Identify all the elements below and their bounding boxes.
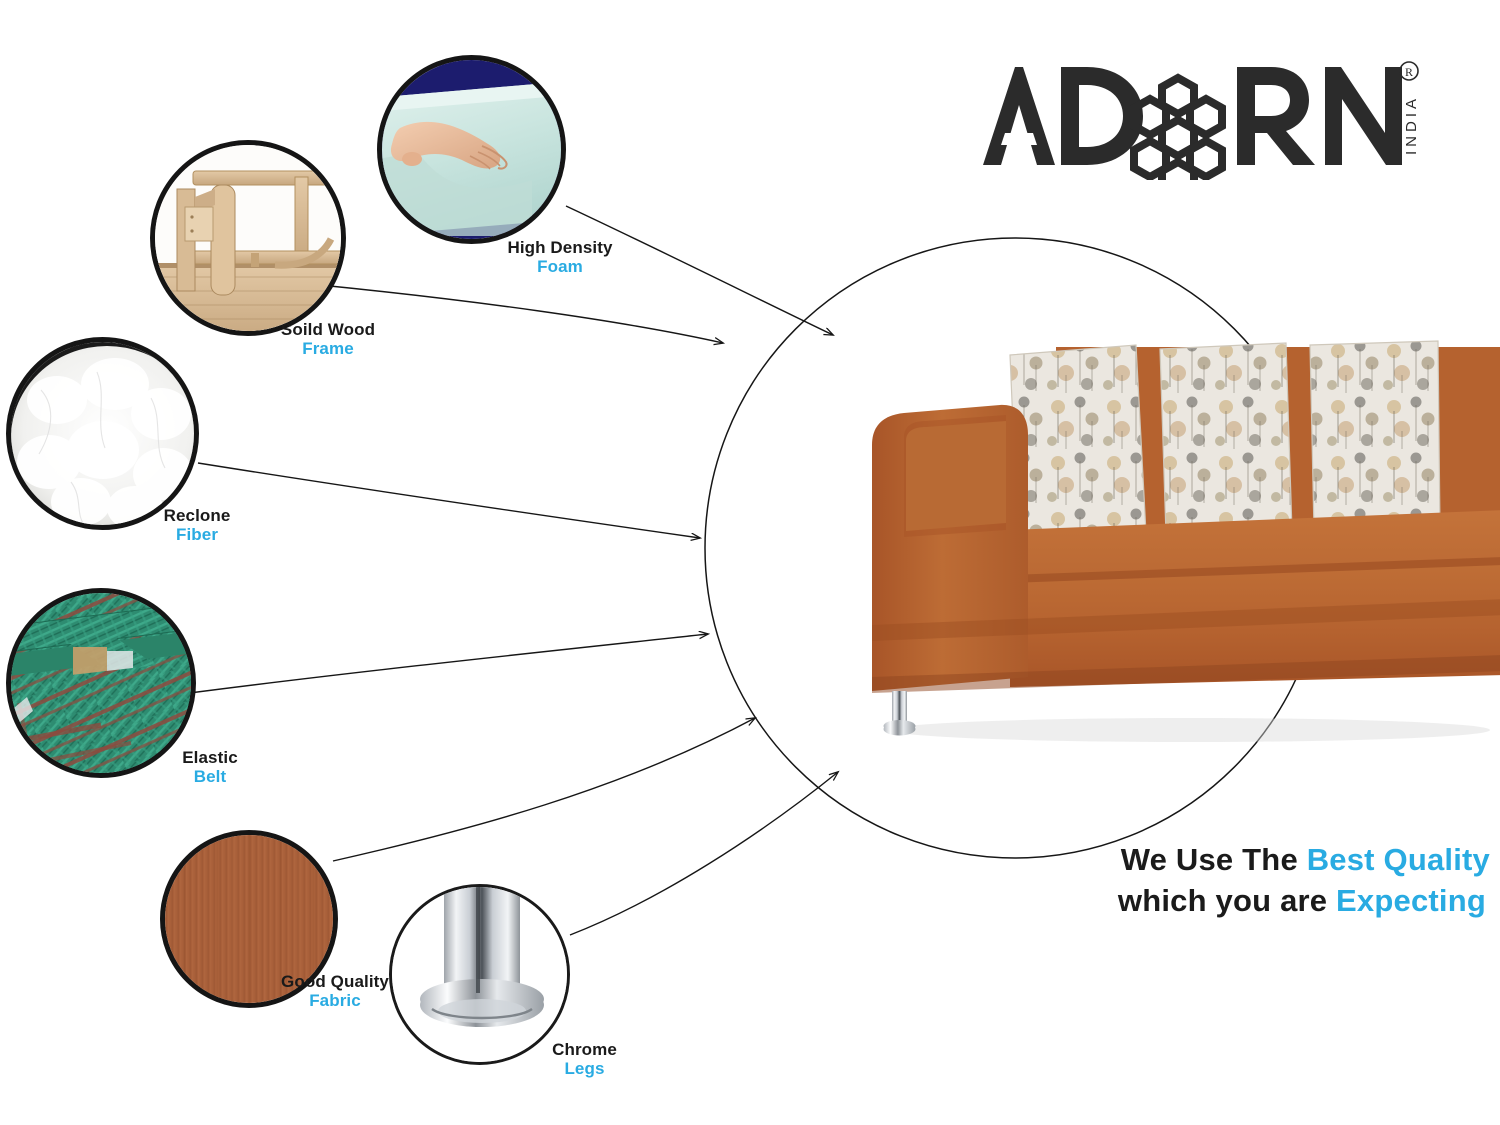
- infographic-canvas: Soild Wood Frame High Density Foam: [0, 0, 1500, 1125]
- tagline-line2-plain: which you are: [1118, 883, 1336, 918]
- caption-line2: Foam: [460, 257, 660, 276]
- caption-line2: Fiber: [112, 525, 282, 544]
- sofa-chrome-leg: [884, 691, 916, 736]
- caption-line1: High Density: [460, 238, 660, 257]
- arrow-elastic-belt: [182, 634, 708, 694]
- feature-image-reclone-fiber: [6, 337, 199, 530]
- caption-high-density-foam: High Density Foam: [460, 238, 660, 276]
- adorn-india-logo: INDIA R: [975, 55, 1425, 180]
- feature-image-solid-wood-frame: [150, 140, 346, 336]
- caption-line1: Soild Wood: [228, 320, 428, 339]
- logo-letter-n: [1325, 67, 1402, 165]
- tagline-line1-plain: We Use The: [1121, 842, 1307, 877]
- cushion-1: [1010, 345, 1146, 541]
- caption-line1: Reclone: [112, 506, 282, 525]
- sofa-illustration: [860, 325, 1500, 755]
- caption-elastic-belt: Elastic Belt: [130, 748, 290, 786]
- caption-line2: Legs: [512, 1059, 657, 1078]
- logo-letter-r: [1237, 67, 1315, 165]
- tagline-line1-accent: Best Quality: [1307, 842, 1490, 877]
- caption-line1: Elastic: [130, 748, 290, 767]
- logo-trademark-icon: R: [1400, 62, 1418, 80]
- logo-honeycomb-icon: [1134, 78, 1222, 180]
- caption-solid-wood-frame: Soild Wood Frame: [228, 320, 428, 358]
- cushion-3: [1310, 341, 1440, 531]
- feature-image-high-density-foam: [377, 55, 566, 244]
- svg-text:R: R: [1405, 65, 1413, 79]
- tagline-line-2: which you are Expecting: [760, 881, 1490, 922]
- logo-letter-a: [983, 67, 1055, 165]
- svg-text:INDIA: INDIA: [1403, 95, 1420, 155]
- caption-line2: Frame: [228, 339, 428, 358]
- arrow-fabric: [333, 718, 755, 861]
- cushion-2: [1160, 343, 1292, 535]
- caption-line1: Chrome: [512, 1040, 657, 1059]
- caption-line2: Belt: [130, 767, 290, 786]
- logo-sub-india: INDIA: [1403, 95, 1420, 155]
- tagline-line-1: We Use The Best Quality: [760, 840, 1490, 881]
- caption-reclone-fiber: Reclone Fiber: [112, 506, 282, 544]
- cushion-group: [1010, 341, 1440, 541]
- caption-chrome-legs: Chrome Legs: [512, 1040, 657, 1078]
- tagline-line2-accent: Expecting: [1336, 883, 1486, 918]
- feature-image-chrome-legs: [389, 884, 570, 1065]
- tagline: We Use The Best Quality which you are Ex…: [760, 840, 1490, 922]
